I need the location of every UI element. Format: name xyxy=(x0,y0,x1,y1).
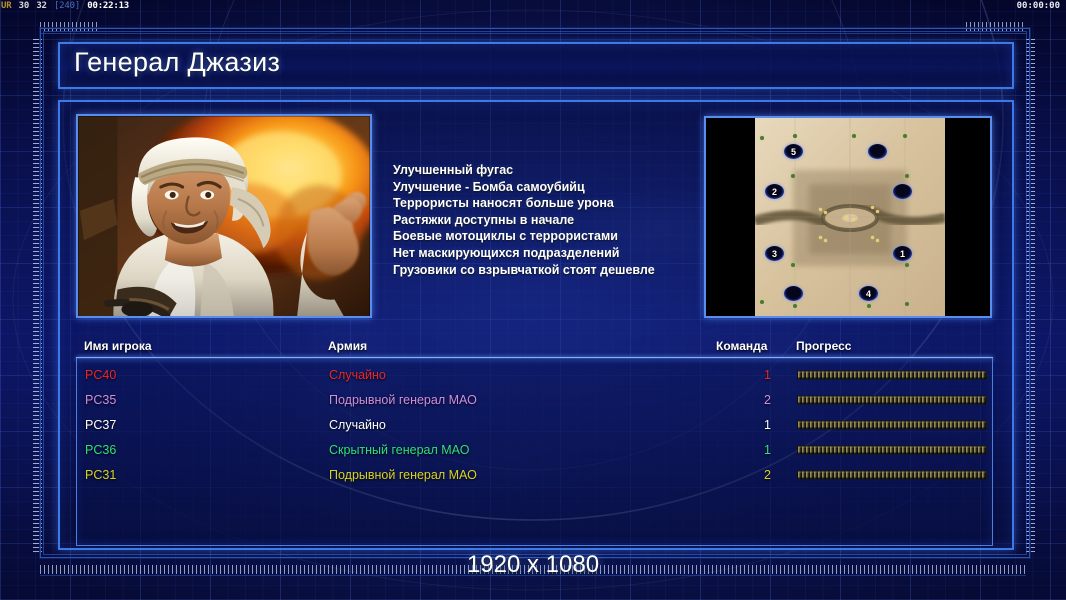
map-resource xyxy=(852,218,855,221)
player-army: Подрывной генерал МАО xyxy=(329,468,477,482)
map-terrain-art xyxy=(755,118,945,316)
map-terrain: 52314 xyxy=(755,118,945,316)
table-row[interactable]: PC37Случайно1 xyxy=(77,412,994,437)
map-tree xyxy=(791,263,795,267)
clock-display: 00:00:00 xyxy=(1017,0,1060,13)
column-header-progress: Прогресс xyxy=(796,339,851,353)
player-progress-bar xyxy=(797,420,987,429)
map-resource xyxy=(845,216,848,219)
map-tree xyxy=(760,136,764,140)
map-resource xyxy=(876,210,879,213)
map-tree xyxy=(905,174,909,178)
player-progress-bar xyxy=(797,470,987,479)
map-start-position-6[interactable]: 1 xyxy=(893,246,912,261)
map-start-position-4[interactable] xyxy=(893,184,912,199)
map-start-position-5[interactable]: 3 xyxy=(765,246,784,261)
map-start-position-label: 2 xyxy=(772,187,777,197)
status-value-b: 32 xyxy=(35,1,47,11)
player-team: 2 xyxy=(725,393,771,407)
table-row[interactable]: PC35Подрывной генерал МАО2 xyxy=(77,387,994,412)
column-header-name: Имя игрока xyxy=(84,339,152,353)
map-resource xyxy=(819,236,822,239)
map-resource xyxy=(824,239,827,242)
player-army: Скрытный генерал МАО xyxy=(329,443,469,457)
map-tree xyxy=(905,302,909,306)
player-progress-bar xyxy=(797,445,987,454)
map-start-position-7[interactable] xyxy=(784,286,803,301)
player-team: 1 xyxy=(725,443,771,457)
status-value-a: 30 xyxy=(18,1,30,11)
description-line: Террористы наносят больше урона xyxy=(393,195,693,212)
map-tree xyxy=(852,134,856,138)
map-tree xyxy=(867,304,871,308)
map-tree xyxy=(760,300,764,304)
description-line: Растяжки доступны в начале xyxy=(393,212,693,229)
map-start-position-label: 1 xyxy=(900,249,905,259)
resolution-label: 1920 x 1080 xyxy=(0,551,1066,579)
map-tree xyxy=(903,134,907,138)
portrait-artwork xyxy=(78,116,370,317)
player-army: Подрывной генерал МАО xyxy=(329,393,477,407)
player-table-header: Имя игрока Армия Команда Прогресс xyxy=(76,339,992,356)
map-resource xyxy=(871,206,874,209)
player-name: PC31 xyxy=(85,468,116,482)
map-start-position-8[interactable]: 4 xyxy=(859,286,878,301)
player-army: Случайно xyxy=(329,418,386,432)
status-ur-label: UR xyxy=(0,1,12,11)
map-resource xyxy=(871,236,874,239)
player-army: Случайно xyxy=(329,368,386,382)
status-timer: 00:22:13 xyxy=(86,1,130,11)
map-tree xyxy=(793,134,797,138)
player-progress-bar xyxy=(797,370,987,379)
general-portrait xyxy=(76,114,372,318)
table-row[interactable]: PC40Случайно1 xyxy=(77,362,994,387)
player-name: PC36 xyxy=(85,443,116,457)
description-line: Грузовики со взрывчаткой стоят дешевле xyxy=(393,262,693,279)
description-line: Улучшение - Бомба самоубийц xyxy=(393,179,693,196)
player-progress-bar xyxy=(797,395,987,404)
player-team: 1 xyxy=(725,418,771,432)
map-start-position-label: 4 xyxy=(866,289,871,299)
map-start-position-1[interactable]: 5 xyxy=(784,144,803,159)
map-resource xyxy=(819,208,822,211)
map-resource xyxy=(876,239,879,242)
player-team: 1 xyxy=(725,368,771,382)
player-list: PC40Случайно1PC35Подрывной генерал МАО2P… xyxy=(76,358,993,546)
map-tree xyxy=(791,174,795,178)
player-name: PC35 xyxy=(85,393,116,407)
column-header-team: Команда xyxy=(716,339,767,353)
table-row[interactable]: PC36Скрытный генерал МАО1 xyxy=(77,437,994,462)
map-start-position-label: 5 xyxy=(791,147,796,157)
map-start-position-label: 3 xyxy=(772,249,777,259)
description-line: Боевые мотоциклы с террористами xyxy=(393,228,693,245)
map-tree xyxy=(793,304,797,308)
description-line: Нет маскирующихся подразделений xyxy=(393,245,693,262)
map-start-position-3[interactable]: 2 xyxy=(765,184,784,199)
map-preview[interactable]: 52314 xyxy=(704,116,992,318)
table-row[interactable]: PC31Подрывной генерал МАО2 xyxy=(77,462,994,487)
map-tree xyxy=(905,263,909,267)
player-name: PC40 xyxy=(85,368,116,382)
player-team: 2 xyxy=(725,468,771,482)
general-description: Улучшенный фугас Улучшение - Бомба самоу… xyxy=(393,162,693,278)
description-line: Улучшенный фугас xyxy=(393,162,693,179)
map-resource xyxy=(824,211,827,214)
status-bracket: [240] xyxy=(53,1,81,11)
game-screen: UR 30 32 [240] 00:22:13 00:00:00 Генерал… xyxy=(0,0,1066,600)
page-title: Генерал Джазиз xyxy=(74,47,280,78)
debug-status-bar: UR 30 32 [240] 00:22:13 xyxy=(0,0,1066,13)
column-header-army: Армия xyxy=(328,339,367,353)
map-start-position-2[interactable] xyxy=(868,144,887,159)
player-name: PC37 xyxy=(85,418,116,432)
